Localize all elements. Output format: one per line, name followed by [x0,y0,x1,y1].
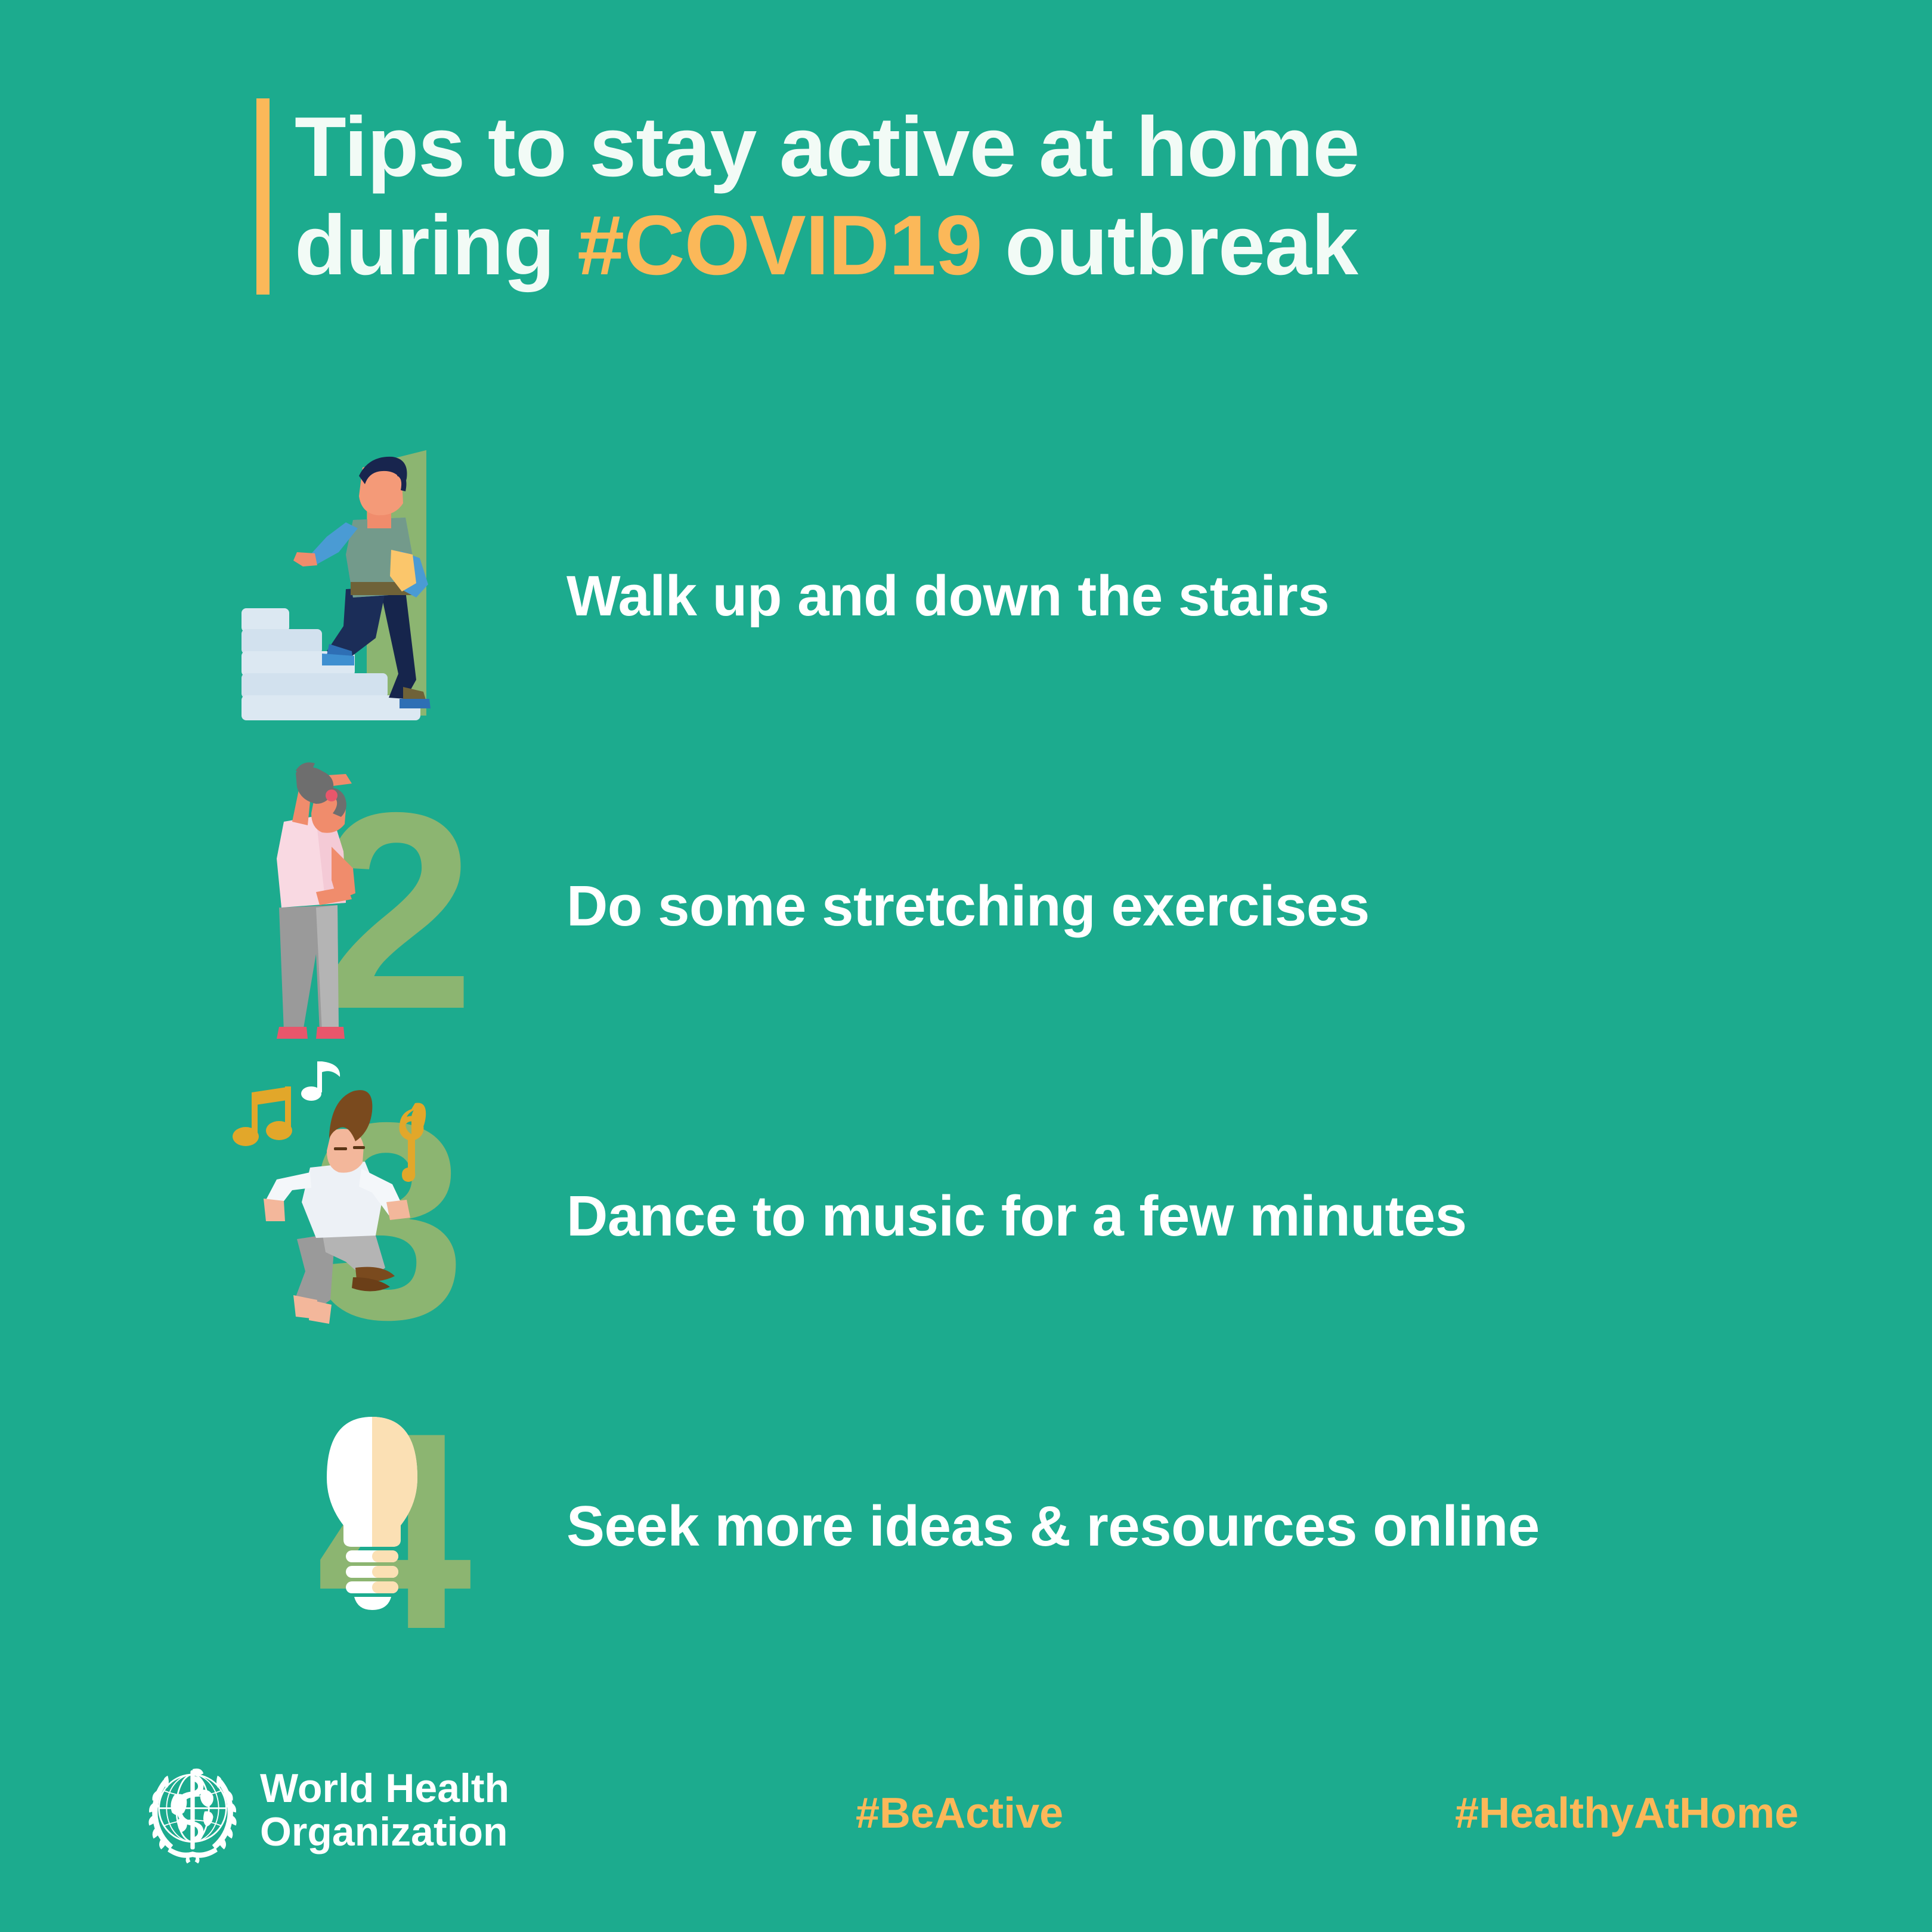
tip-row-3: 3 [0,1061,1932,1371]
music-note-yellow-icon [233,1086,292,1146]
who-wordmark-line-1: World Health [260,1767,509,1810]
who-wordmark-line-2: Organization [260,1810,509,1854]
tip-1-text: Walk up and down the stairs [566,563,1329,629]
title-suffix: outbreak [982,198,1358,293]
tip-row-1: Walk up and down the stairs [0,441,1932,751]
page-header: Tips to stay active at home during #COVI… [256,98,1359,295]
page-title: Tips to stay active at home during #COVI… [295,98,1359,295]
tip-row-4: 4 Seek more ideas & resources online [0,1371,1932,1682]
infographic-page: { "theme": { "background": "#1CAB8E", "a… [0,0,1932,1932]
title-line-1: Tips to stay active at home [295,98,1359,197]
orange-accent-bar [256,98,270,295]
tip-row-2: 2 [0,751,1932,1061]
treble-clef-icon [400,1103,426,1182]
who-wordmark: World Health Organization [260,1767,509,1854]
tip-3-illustration: 3 [227,1061,561,1371]
title-line-2: during #COVID19 outbreak [295,197,1359,295]
tip-2-illustration: 2 [227,751,561,1061]
music-note-white-icon [301,1061,340,1101]
lightbulb-icon [227,1371,561,1682]
tip-4-illustration: 4 [227,1371,561,1682]
hashtag-healthyathome[interactable]: #HealthyAtHome [1455,1789,1798,1838]
who-emblem-icon [138,1756,247,1865]
person-dancing-icon [227,1061,561,1371]
man-climbing-stairs-icon [227,441,561,751]
hashtag-beactive[interactable]: #BeActive [856,1789,1063,1838]
who-logo: World Health Organization [138,1756,509,1865]
tip-3-text: Dance to music for a few minutes [566,1184,1467,1249]
woman-stretching-icon [227,751,561,1061]
tip-2-text: Do some stretching exercises [566,874,1370,939]
title-prefix: during [295,198,577,293]
tips-list: Walk up and down the stairs 2 [0,441,1932,1682]
tip-1-illustration [227,441,561,751]
covid19-hashtag: #COVID19 [577,198,982,293]
tip-4-text: Seek more ideas & resources online [566,1494,1540,1559]
